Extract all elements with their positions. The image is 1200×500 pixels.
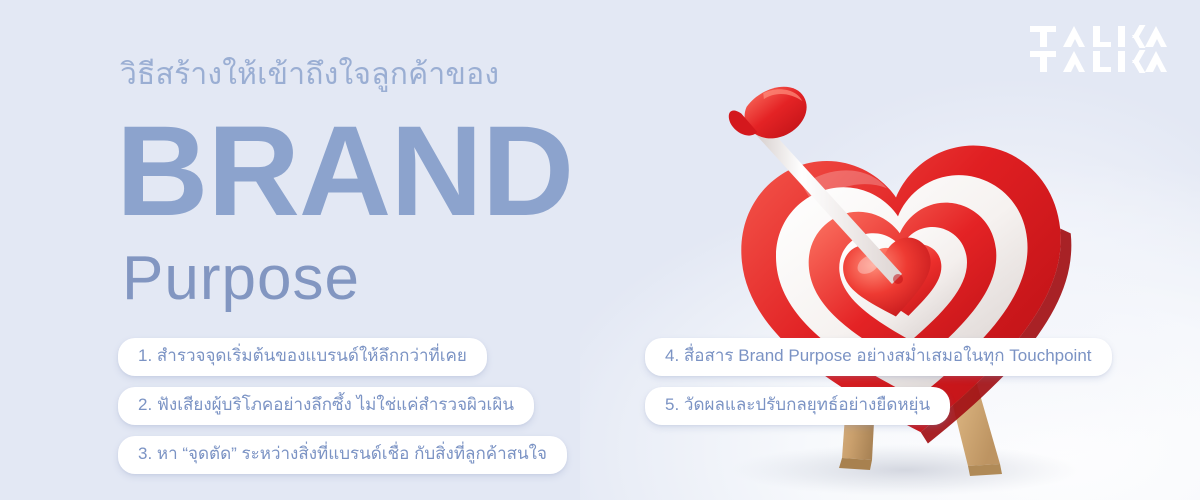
tips-column-right: 4. สื่อสาร Brand Purpose อย่างสม่ำเสมอใน… xyxy=(645,338,1112,425)
logo-letter-t xyxy=(1030,26,1056,47)
headline-title: BRAND xyxy=(116,108,573,236)
logo-letter-a xyxy=(1063,26,1086,47)
arrow-fletching xyxy=(726,84,809,142)
headline-kicker: วิธีสร้างให้เข้าถึงใจลูกค้าของ xyxy=(120,56,499,94)
list-item[interactable]: 2. ฟังเสียงผู้บริโภคอย่างลึกซึ้ง ไม่ใช่แ… xyxy=(118,387,534,425)
easel-leg-left-foot xyxy=(839,458,872,470)
logo-line-2 xyxy=(1030,51,1168,72)
logo2-letter-k xyxy=(1118,51,1138,72)
logo2-letter-t xyxy=(1030,51,1056,72)
list-item[interactable]: 5. วัดผลและปรับกลยุทธ์อย่างยืดหยุ่น xyxy=(645,387,950,425)
list-item[interactable]: 1. สำรวจจุดเริ่มต้นของแบรนด์ให้ลึกกว่าที… xyxy=(118,338,487,376)
tips-column-left: 1. สำรวจจุดเริ่มต้นของแบรนด์ให้ลึกกว่าที… xyxy=(118,338,567,474)
logo2-letter-a xyxy=(1063,51,1086,72)
logo2-letter-l xyxy=(1093,51,1111,72)
logo-line-1 xyxy=(1030,26,1168,47)
heart-target-with-arrow-graphic xyxy=(700,78,1130,498)
list-item[interactable]: 4. สื่อสาร Brand Purpose อย่างสม่ำเสมอใน… xyxy=(645,338,1112,376)
logo-letter-a-2 xyxy=(1145,26,1168,47)
headline-subtitle: Purpose xyxy=(122,248,360,310)
logo2-letter-a-2 xyxy=(1145,51,1168,72)
talka-talka-logo[interactable] xyxy=(1030,26,1168,72)
logo-letter-k xyxy=(1118,26,1138,47)
easel-leg-right-foot xyxy=(968,464,1002,476)
arrow-impact-point xyxy=(893,274,903,284)
brand-purpose-banner: วิธีสร้างให้เข้าถึงใจลูกค้าของ BRAND Pur… xyxy=(0,0,1200,500)
logo-letter-l xyxy=(1093,26,1111,47)
ground-shadow xyxy=(730,444,1080,496)
list-item[interactable]: 3. หา “จุดตัด” ระหว่างสิ่งที่แบรนด์เชื่อ… xyxy=(118,436,567,474)
